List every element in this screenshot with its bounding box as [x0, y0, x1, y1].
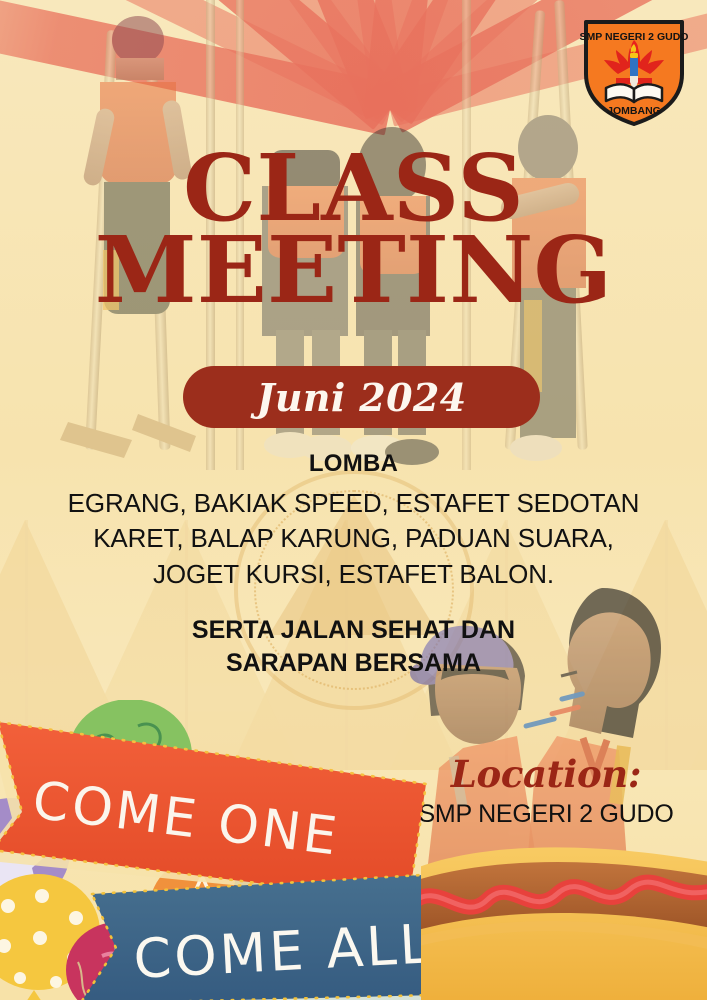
events-line-3: JOGET KURSI, ESTAFET BALON.	[0, 557, 707, 592]
events-line-1: EGRANG, BAKIAK SPEED, ESTAFET SEDOTAN	[0, 486, 707, 521]
hotdog-decoration	[421, 830, 707, 1000]
extra-activity-line-2: SARAPAN BERSAMA	[0, 647, 707, 680]
headline-line-2: MEETING	[0, 228, 707, 314]
lomba-heading: LOMBA	[0, 450, 707, 478]
school-logo-svg: SMP NEGERI 2 GUDO JOMBANG	[578, 16, 690, 126]
banners-decoration: COME ONE COME ALL	[0, 708, 474, 1000]
logo-bottom-text: JOMBANG	[607, 105, 661, 117]
torch-flame-icon	[630, 40, 638, 92]
poster-headline: CLASS MEETING	[0, 146, 707, 313]
event-date-badge: Juni 2024	[183, 366, 540, 428]
hotdog-svg	[421, 830, 707, 1000]
event-date-label: Juni 2024	[256, 375, 466, 420]
events-line-2: KARET, BALAP KARUNG, PADUAN SUARA,	[0, 521, 707, 556]
extra-activity-line-1: SERTA JALAN SEHAT DAN	[0, 614, 707, 647]
banners-svg: COME ONE COME ALL	[0, 708, 474, 1000]
school-logo: SMP NEGERI 2 GUDO JOMBANG	[578, 16, 690, 126]
class-meeting-poster: SMP NEGERI 2 GUDO JOMBANG	[0, 0, 707, 1000]
event-details-block: LOMBA EGRANG, BAKIAK SPEED, ESTAFET SEDO…	[0, 450, 707, 680]
